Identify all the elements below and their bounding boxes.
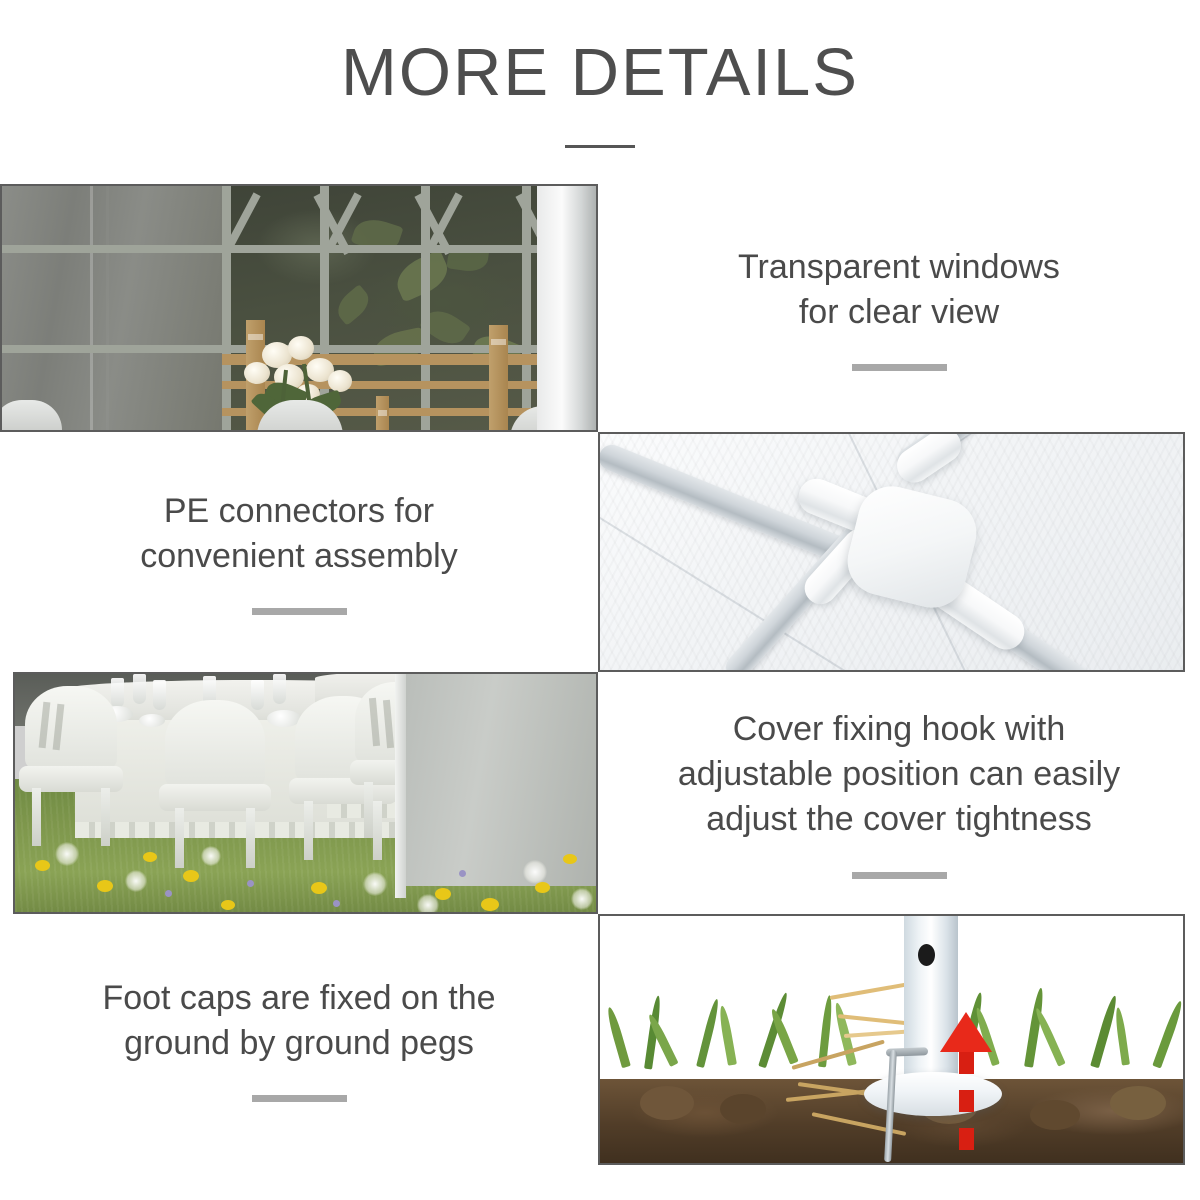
feature-caption-pe-connectors: PE connectors for convenient assembly (0, 432, 598, 672)
feature-photo-transparent-windows (0, 184, 598, 432)
insertion-arrow-shaft (959, 1052, 974, 1163)
caption-text: Transparent windows for clear view (738, 245, 1060, 335)
title-divider (565, 145, 635, 148)
plastic-chair (165, 700, 265, 868)
caption-divider (252, 608, 347, 615)
window-mullion (2, 245, 596, 253)
page-title: MORE DETAILS (0, 38, 1200, 108)
page-header: MORE DETAILS (0, 0, 1200, 184)
canopy-wall (2, 186, 222, 430)
plastic-chair (25, 686, 117, 846)
feature-grid: Transparent windows for clear view PE co… (0, 184, 1200, 1184)
wall-seam (90, 186, 93, 430)
wine-glass (133, 674, 146, 704)
pole-hole (918, 944, 935, 966)
railing-post (489, 325, 508, 430)
wall-seam (106, 186, 109, 430)
insertion-arrow-icon (940, 1012, 992, 1052)
caption-text: Foot caps are fixed on the ground by gro… (102, 976, 495, 1066)
wine-glass (273, 674, 286, 704)
feature-photo-foot-caps (598, 914, 1185, 1165)
window-mullion (222, 186, 231, 430)
canopy-pole (537, 186, 596, 430)
gazebo-pole (904, 916, 958, 1094)
caption-divider (252, 1095, 347, 1102)
feature-photo-cover-fixing-hook (13, 672, 598, 914)
foot-cap (864, 1072, 1002, 1116)
gazebo-pole (395, 674, 406, 898)
feature-caption-cover-fixing-hook: Cover fixing hook with adjustable positi… (598, 672, 1200, 914)
caption-text: Cover fixing hook with adjustable positi… (678, 707, 1120, 842)
caption-divider (852, 364, 947, 371)
feature-caption-foot-caps: Foot caps are fixed on the ground by gro… (0, 914, 598, 1164)
feature-photo-pe-connectors (598, 432, 1185, 672)
plate (139, 714, 165, 727)
caption-text: PE connectors for convenient assembly (140, 489, 458, 579)
feature-caption-transparent-windows: Transparent windows for clear view (598, 184, 1200, 432)
caption-divider (852, 872, 947, 879)
